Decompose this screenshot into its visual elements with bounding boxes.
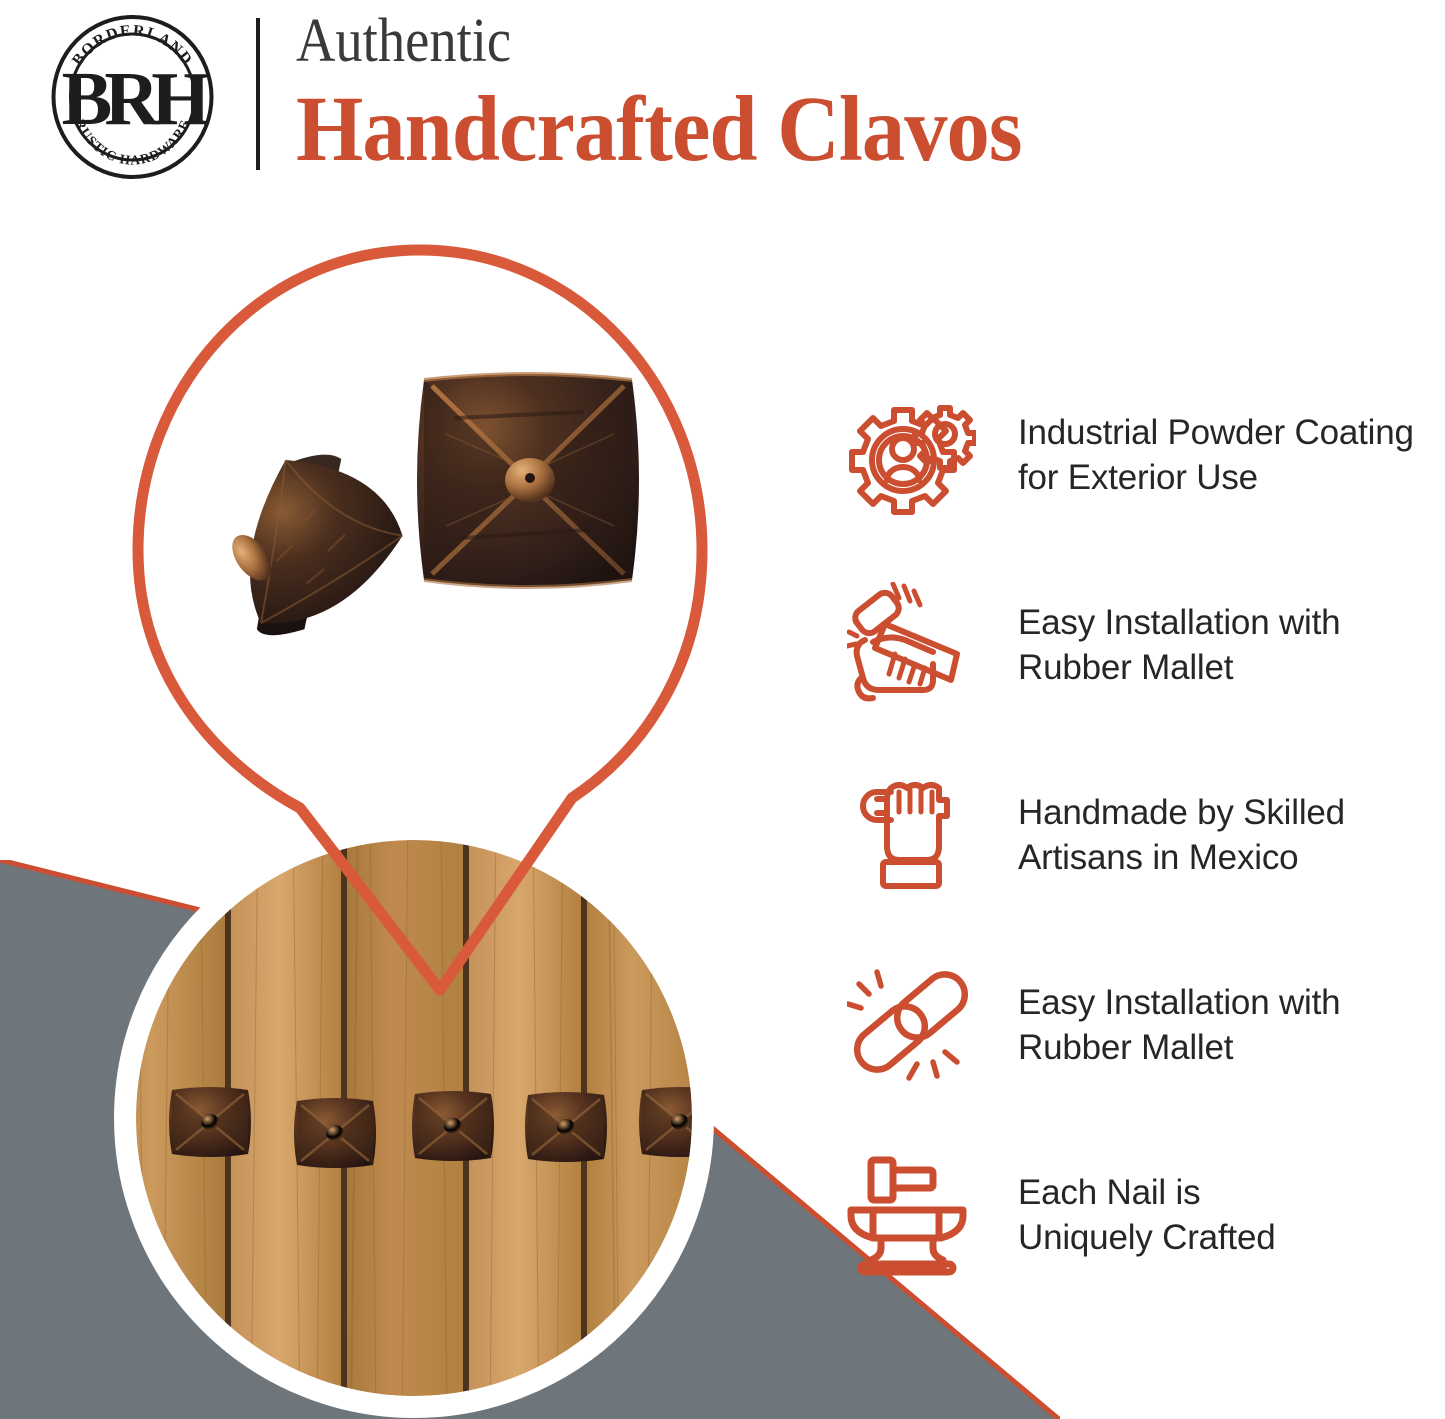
feature-item: Each Nail is Uniquely Crafted <box>836 1120 1445 1310</box>
hand-mallet-icon <box>836 578 986 713</box>
header-divider <box>256 18 260 170</box>
feature-line: Artisans in Mexico <box>1018 835 1345 880</box>
infographic-page: BORDERLAND RUSTIC HARDWARE BRH Authentic… <box>0 0 1445 1419</box>
feature-list: Industrial Powder Coating for Exterior U… <box>836 360 1445 1310</box>
page-header: BORDERLAND RUSTIC HARDWARE BRH Authentic… <box>0 0 1445 190</box>
title-line-1: Authentic <box>296 4 983 78</box>
brand-logo: BORDERLAND RUSTIC HARDWARE BRH <box>45 12 220 182</box>
title-line-2: Handcrafted Clavos <box>296 80 1022 180</box>
feature-line: for Exterior Use <box>1018 455 1414 500</box>
gear-person-icon <box>836 388 986 523</box>
page-title: Authentic Handcrafted Clavos <box>296 4 1076 180</box>
feature-line: Rubber Mallet <box>1018 645 1340 690</box>
feature-item: Industrial Powder Coating for Exterior U… <box>836 360 1445 550</box>
fist-wrench-icon <box>836 768 986 903</box>
feature-label: Each Nail is Uniquely Crafted <box>986 1170 1276 1260</box>
feature-line: Uniquely Crafted <box>1018 1215 1276 1260</box>
feature-item: Handmade by Skilled Artisans in Mexico <box>836 740 1445 930</box>
clavo-angled <box>202 430 421 646</box>
feature-line: Easy Installation with <box>1018 980 1340 1025</box>
borderland-rustic-hardware-seal-icon: BORDERLAND RUSTIC HARDWARE BRH <box>45 12 220 182</box>
feature-item: Easy Installation with Rubber Mallet <box>836 930 1445 1120</box>
clavos-product-photo <box>160 330 680 750</box>
feature-line: Easy Installation with <box>1018 600 1340 645</box>
anvil-hammer-icon <box>836 1148 986 1283</box>
svg-text:BRH: BRH <box>62 57 210 141</box>
feature-line: Each Nail is <box>1018 1170 1276 1215</box>
feature-item: Easy Installation with Rubber Mallet <box>836 550 1445 740</box>
feature-label: Easy Installation with Rubber Mallet <box>986 600 1340 690</box>
feature-label: Easy Installation with Rubber Mallet <box>986 980 1340 1070</box>
feature-label: Industrial Powder Coating for Exterior U… <box>986 410 1414 500</box>
feature-label: Handmade by Skilled Artisans in Mexico <box>986 790 1345 880</box>
feature-line: Handmade by Skilled <box>1018 790 1345 835</box>
feature-line: Rubber Mallet <box>1018 1025 1340 1070</box>
clavo-face-on <box>417 374 639 587</box>
chain-link-icon <box>836 958 986 1093</box>
feature-line: Industrial Powder Coating <box>1018 410 1414 455</box>
